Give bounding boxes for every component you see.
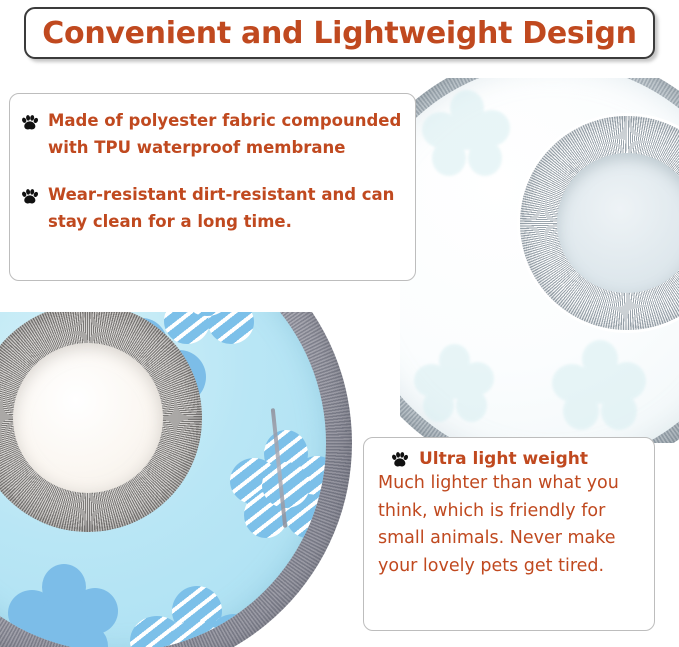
collar-neck-opening [557, 153, 679, 293]
ultralight-heading-row: Ultra light weight [378, 449, 642, 469]
flower-pattern-striped [130, 586, 260, 647]
features-card: Made of polyester fabric compounded with… [9, 93, 416, 281]
collar-graphic-blue [0, 312, 352, 647]
ultralight-card: Ultra light weight Much lighter than wha… [363, 437, 655, 631]
paw-print-icon [390, 450, 409, 469]
page-title: Convenient and Lightweight Design [42, 16, 636, 51]
feature-bullet-text: Wear-resistant dirt-resistant and can st… [48, 182, 405, 235]
ultralight-body-text: Much lighter than what you think, which … [378, 470, 642, 581]
collar-neck-opening [13, 343, 163, 493]
feature-bullet-item: Wear-resistant dirt-resistant and can st… [20, 182, 405, 235]
ultralight-heading: Ultra light weight [419, 449, 588, 469]
collar-graphic-white [400, 78, 679, 443]
product-photo-blue-collar [0, 312, 360, 647]
flower-pattern [552, 340, 646, 430]
flower-pattern [414, 344, 494, 422]
product-photo-white-collar [400, 78, 679, 443]
feature-bullet-text: Made of polyester fabric compounded with… [48, 108, 405, 161]
feature-bullet-item: Made of polyester fabric compounded with… [20, 108, 405, 161]
flower-pattern [422, 90, 510, 176]
paw-print-icon [20, 113, 39, 132]
flower-pattern [8, 564, 118, 647]
header-banner: Convenient and Lightweight Design [24, 7, 655, 59]
paw-print-icon [20, 187, 39, 206]
